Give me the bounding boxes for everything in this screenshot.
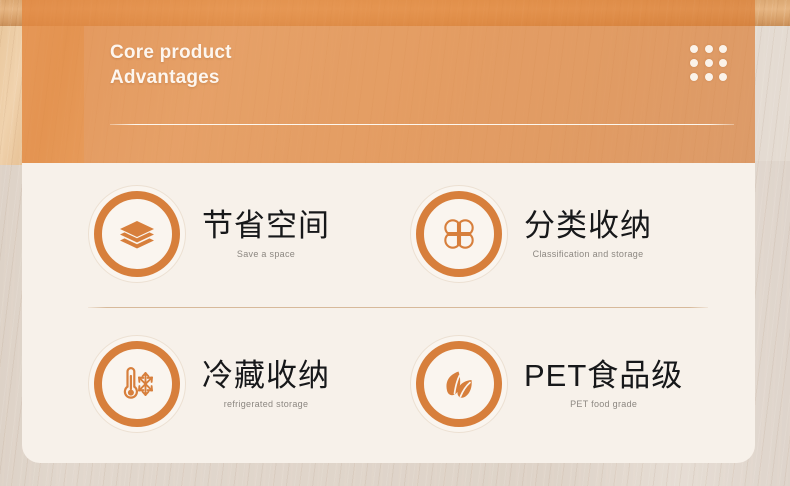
icon-badge bbox=[88, 335, 186, 433]
feature-title: 冷藏收纳 bbox=[202, 358, 330, 394]
icon-badge bbox=[410, 185, 508, 283]
feature-subtitle: refrigerated storage bbox=[224, 398, 309, 410]
features-panel: 节省空间 Save a space bbox=[22, 163, 755, 463]
feature-card-save-space: 节省空间 Save a space bbox=[88, 185, 330, 283]
feature-grid: 节省空间 Save a space bbox=[22, 163, 755, 463]
grid-dot bbox=[690, 73, 698, 81]
icon-badge bbox=[88, 185, 186, 283]
two-leaves-icon bbox=[437, 362, 481, 406]
feature-subtitle: PET food grade bbox=[570, 398, 637, 410]
grid-dots-icon bbox=[690, 45, 728, 81]
product-advantages-banner: Core product Advantages bbox=[0, 0, 790, 486]
grid-dot bbox=[719, 73, 727, 81]
feature-card-pet-food-grade: PET食品级 PET food grade bbox=[410, 335, 683, 433]
feature-subtitle: Save a space bbox=[237, 248, 295, 260]
feature-title: PET食品级 bbox=[524, 358, 683, 394]
grid-dot bbox=[690, 45, 698, 53]
feature-title: 分类收纳 bbox=[524, 208, 652, 244]
grid-dot bbox=[719, 59, 727, 67]
feature-title: 节省空间 bbox=[202, 208, 330, 244]
grid-dot bbox=[719, 45, 727, 53]
grid-dot bbox=[705, 45, 713, 53]
grid-dot bbox=[705, 73, 713, 81]
feature-card-classification: 分类收纳 Classification and storage bbox=[410, 185, 652, 283]
header-panel: Core product Advantages bbox=[22, 0, 755, 163]
feature-subtitle: Classification and storage bbox=[533, 248, 644, 260]
feature-text: 分类收纳 Classification and storage bbox=[524, 208, 652, 260]
feature-text: PET食品级 PET food grade bbox=[524, 358, 683, 410]
grid-dot bbox=[705, 59, 713, 67]
four-petal-clover-icon bbox=[437, 212, 481, 256]
stacked-layers-icon bbox=[115, 212, 159, 256]
feature-card-refrigerated: 冷藏收纳 refrigerated storage bbox=[88, 335, 330, 433]
thermometer-snowflake-icon bbox=[115, 362, 159, 406]
grid-dot bbox=[690, 59, 698, 67]
header-divider bbox=[110, 124, 734, 125]
feature-text: 冷藏收纳 refrigerated storage bbox=[202, 358, 330, 410]
feature-text: 节省空间 Save a space bbox=[202, 208, 330, 260]
icon-badge bbox=[410, 335, 508, 433]
page-title: Core product Advantages bbox=[110, 40, 232, 90]
